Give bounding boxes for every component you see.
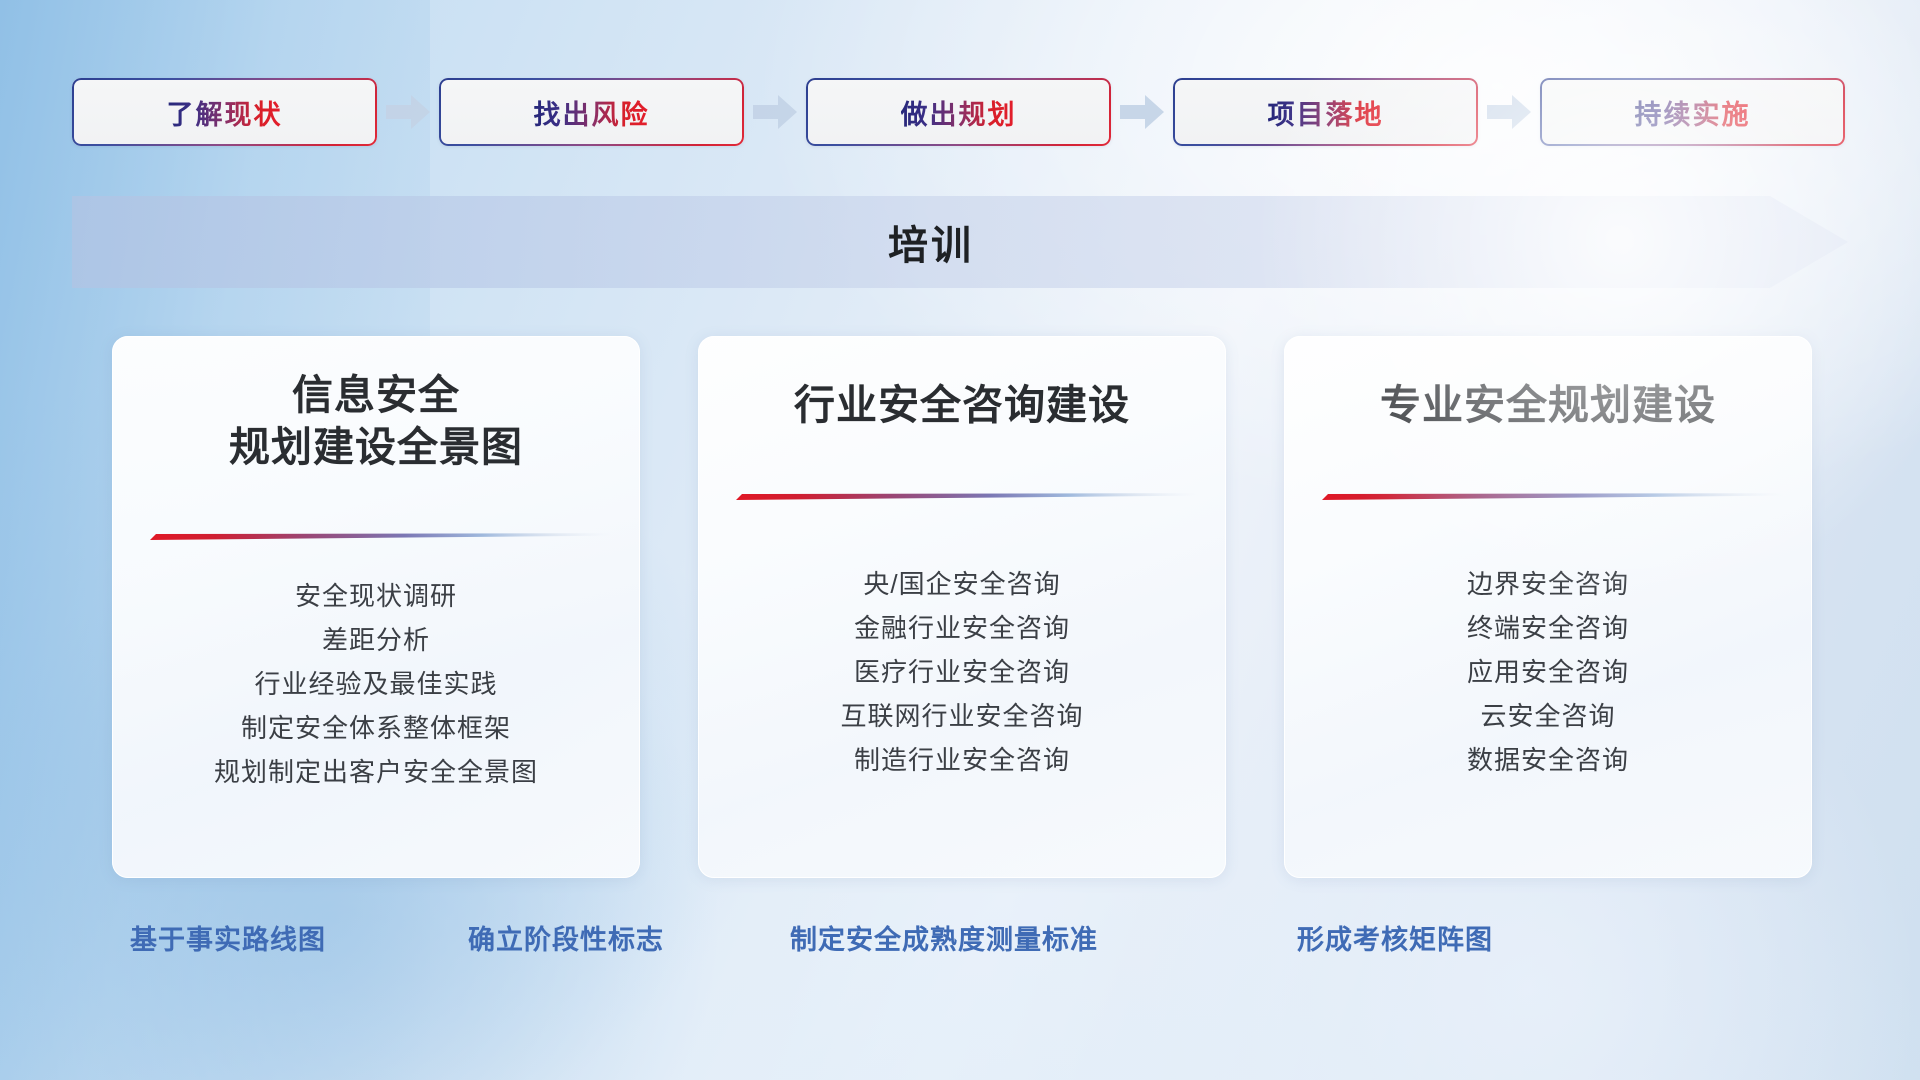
card-divider xyxy=(698,492,1226,502)
list-item: 差距分析 xyxy=(112,618,640,662)
footnote-row: 基于事实路线图确立阶段性标志制定安全成熟度测量标准形成考核矩阵图 xyxy=(0,918,1920,968)
arrow-right-icon xyxy=(1478,78,1540,146)
list-item: 制造行业安全咨询 xyxy=(698,738,1226,782)
list-item: 制定安全体系整体框架 xyxy=(112,706,640,750)
list-item: 互联网行业安全咨询 xyxy=(698,694,1226,738)
service-card-3[interactable]: 专业安全规划建设边界安全咨询终端安全咨询应用安全咨询云安全咨询数据安全咨询 xyxy=(1284,336,1812,878)
card-item-list: 边界安全咨询终端安全咨询应用安全咨询云安全咨询数据安全咨询 xyxy=(1284,562,1812,782)
process-step-bar: 了解现状找出风险做出规划项目落地持续实施 xyxy=(72,78,1848,146)
service-card-2[interactable]: 行业安全咨询建设央/国企安全咨询金融行业安全咨询医疗行业安全咨询互联网行业安全咨… xyxy=(698,336,1226,878)
step-3[interactable]: 做出规划 xyxy=(806,78,1111,146)
footnote-label-3: 制定安全成熟度测量标准 xyxy=(790,918,1098,957)
list-item: 规划制定出客户安全全景图 xyxy=(112,750,640,794)
step-label: 项目落地 xyxy=(1268,93,1384,132)
list-item: 数据安全咨询 xyxy=(1284,738,1812,782)
step-label: 做出规划 xyxy=(901,93,1017,132)
arrow-right-icon xyxy=(377,78,439,146)
list-item: 央/国企安全咨询 xyxy=(698,562,1226,606)
banner-label: 培训 xyxy=(72,196,1848,288)
card-item-list: 安全现状调研差距分析行业经验及最佳实践制定安全体系整体框架规划制定出客户安全全景… xyxy=(112,574,640,794)
list-item: 应用安全咨询 xyxy=(1284,650,1812,694)
footnote-label-1: 基于事实路线图 xyxy=(130,918,326,957)
training-banner: 培训 xyxy=(72,196,1848,288)
card-title: 行业安全咨询建设 xyxy=(698,336,1226,432)
list-item: 金融行业安全咨询 xyxy=(698,606,1226,650)
step-label: 找出风险 xyxy=(534,93,650,132)
step-4[interactable]: 项目落地 xyxy=(1173,78,1478,146)
list-item: 医疗行业安全咨询 xyxy=(698,650,1226,694)
card-row: 信息安全 规划建设全景图安全现状调研差距分析行业经验及最佳实践制定安全体系整体框… xyxy=(112,336,1812,878)
card-item-list: 央/国企安全咨询金融行业安全咨询医疗行业安全咨询互联网行业安全咨询制造行业安全咨… xyxy=(698,562,1226,782)
arrow-right-icon xyxy=(744,78,806,146)
service-card-1[interactable]: 信息安全 规划建设全景图安全现状调研差距分析行业经验及最佳实践制定安全体系整体框… xyxy=(112,336,640,878)
step-label: 持续实施 xyxy=(1635,93,1751,132)
list-item: 边界安全咨询 xyxy=(1284,562,1812,606)
step-1[interactable]: 了解现状 xyxy=(72,78,377,146)
card-divider xyxy=(1284,492,1812,502)
footnote-label-2: 确立阶段性标志 xyxy=(468,918,664,957)
list-item: 行业经验及最佳实践 xyxy=(112,662,640,706)
footnote-label-4: 形成考核矩阵图 xyxy=(1297,918,1493,957)
step-5[interactable]: 持续实施 xyxy=(1540,78,1845,146)
list-item: 安全现状调研 xyxy=(112,574,640,618)
list-item: 云安全咨询 xyxy=(1284,694,1812,738)
slide-canvas: 了解现状找出风险做出规划项目落地持续实施 培训 信息安全 规划建设全景图安全现状… xyxy=(0,0,1920,1080)
card-title: 专业安全规划建设 xyxy=(1284,336,1812,432)
list-item: 终端安全咨询 xyxy=(1284,606,1812,650)
card-divider xyxy=(112,532,640,542)
card-title: 信息安全 规划建设全景图 xyxy=(112,336,640,473)
step-2[interactable]: 找出风险 xyxy=(439,78,744,146)
arrow-right-icon xyxy=(1111,78,1173,146)
step-label: 了解现状 xyxy=(167,93,283,132)
